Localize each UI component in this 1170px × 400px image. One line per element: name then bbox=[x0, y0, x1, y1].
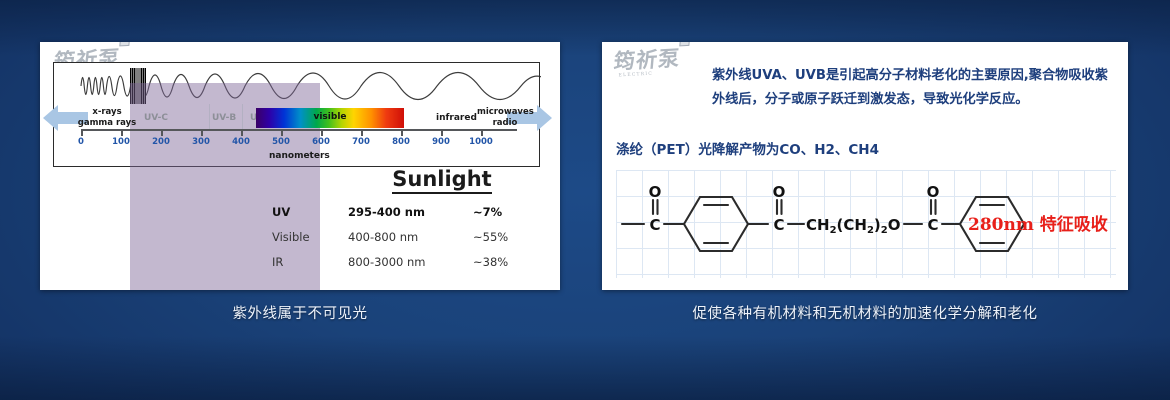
row-range: 295-400 nm bbox=[348, 205, 473, 219]
nanometer-axis bbox=[81, 129, 517, 131]
row-type: Visible bbox=[272, 230, 348, 244]
band-label-uv-c: UV-C bbox=[144, 113, 168, 123]
band-label-uv-b: UV-B bbox=[212, 113, 236, 123]
pet-photodegradation-line: 涤纶（PET）光降解产物为CO、H2、CH4 bbox=[616, 138, 879, 158]
row-share: ~38% bbox=[473, 255, 533, 269]
tick-label: 600 bbox=[312, 137, 330, 147]
chemical-structure-area: C O C O C O CH2(CH2)2O 280nm 特征吸收 bbox=[616, 170, 1116, 278]
tick-label: 500 bbox=[272, 137, 290, 147]
uvb-uva-separator bbox=[242, 104, 243, 129]
svg-text:O: O bbox=[927, 183, 940, 201]
tick-label: 900 bbox=[432, 137, 450, 147]
slide-canvas: 筠祈泵 ELECTRIC x bbox=[0, 0, 1170, 400]
tick-label: 700 bbox=[352, 137, 370, 147]
svg-text:O: O bbox=[773, 183, 786, 201]
electromagnetic-spectrum-diagram: x-rays gamma rays microwaves radio UV-C … bbox=[53, 62, 540, 167]
svg-text:C: C bbox=[773, 216, 784, 234]
absorption-value: 280nm bbox=[968, 215, 1034, 235]
uv-aging-paragraph: 紫外线UVA、UVB是引起高分子材料老化的主要原因,聚合物吸收紫外线后，分子或原… bbox=[712, 64, 1112, 112]
tick-label: 0 bbox=[78, 137, 84, 147]
row-range: 400-800 nm bbox=[348, 230, 473, 244]
row-share: ~55% bbox=[473, 230, 533, 244]
table-row: Visible 400-800 nm ~55% bbox=[272, 230, 552, 244]
watermark-logo: 筠祈泵 ELECTRIC bbox=[612, 42, 681, 78]
watermark-square-icon bbox=[679, 42, 690, 46]
axis-unit-label: nanometers bbox=[269, 151, 330, 161]
tick-label: 200 bbox=[152, 137, 170, 147]
left-panel-caption: 紫外线属于不可见光 bbox=[40, 302, 560, 323]
absorption-annotation: 280nm 特征吸收 bbox=[968, 210, 1108, 235]
tick-label: 400 bbox=[232, 137, 250, 147]
tick-label: 300 bbox=[192, 137, 210, 147]
svg-text:C: C bbox=[927, 216, 938, 234]
svg-text:O: O bbox=[649, 183, 662, 201]
svg-text:CH2(CH2)2O: CH2(CH2)2O bbox=[806, 216, 901, 236]
row-range: 800-3000 nm bbox=[348, 255, 473, 269]
table-row: UV 295-400 nm ~7% bbox=[272, 205, 552, 219]
svg-text:C: C bbox=[649, 216, 660, 234]
row-type: IR bbox=[272, 255, 348, 269]
uv-spectrum-card: 筠祈泵 ELECTRIC x bbox=[40, 42, 560, 290]
watermark-square-icon bbox=[119, 42, 130, 46]
row-share: ~7% bbox=[473, 205, 533, 219]
table-row: IR 800-3000 nm ~38% bbox=[272, 255, 552, 269]
band-label-visible: visible bbox=[256, 112, 404, 122]
right-panel-caption: 促使各种有机材料和无机材料的加速化学分解和老化 bbox=[602, 302, 1128, 323]
row-type: UV bbox=[272, 205, 348, 219]
pet-degradation-card: 筠祈泵 ELECTRIC 紫外线UVA、UVB是引起高分子材料老化的主要原因,聚… bbox=[602, 42, 1128, 290]
sunlight-title: Sunlight bbox=[392, 167, 491, 194]
uvc-uvb-separator bbox=[209, 104, 210, 129]
absorption-label: 特征吸收 bbox=[1040, 215, 1108, 235]
microwave-radio-label: microwaves radio bbox=[477, 107, 533, 129]
tick-label: 100 bbox=[112, 137, 130, 147]
tick-label: 1000 bbox=[469, 137, 493, 147]
band-label-infrared: infrared bbox=[436, 113, 477, 123]
visible-spectrum-bar: visible bbox=[256, 108, 404, 128]
sunlight-table: Sunlight UV 295-400 nm ~7% Visible 400-8… bbox=[272, 167, 552, 269]
tick-label: 800 bbox=[392, 137, 410, 147]
xray-gamma-label: x-rays gamma rays bbox=[74, 107, 140, 129]
